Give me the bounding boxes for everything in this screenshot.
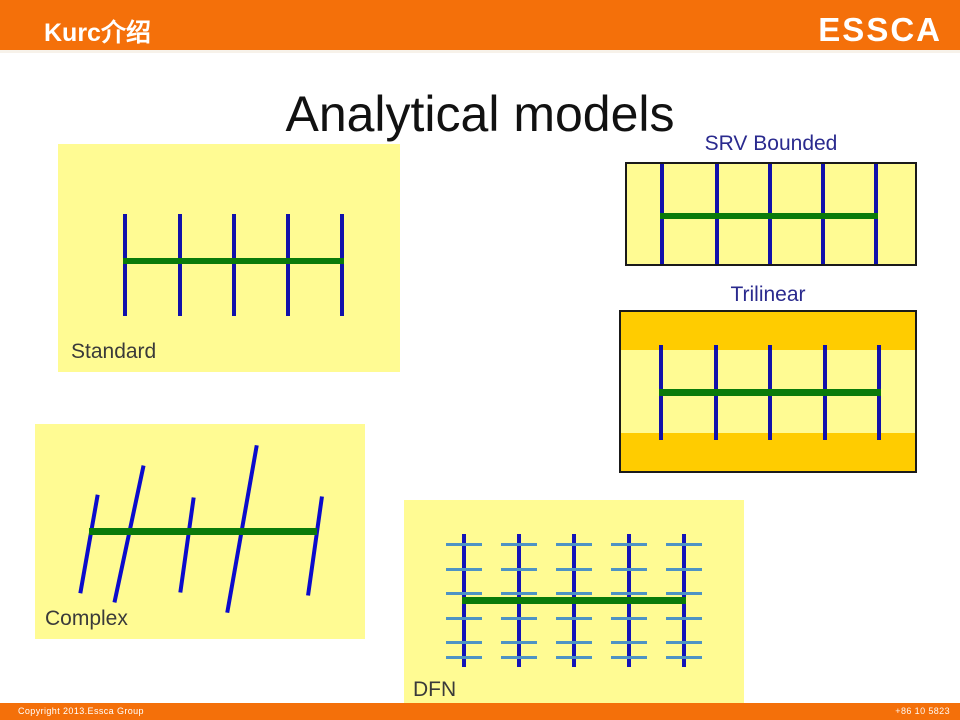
fracture-line <box>78 494 99 593</box>
dfn-cross-bar <box>666 656 702 659</box>
brand-logo: ESSCA <box>818 12 942 48</box>
dfn-cross-bar <box>556 543 592 546</box>
dfn-cross-bar <box>501 656 537 659</box>
fracture-line <box>178 497 195 593</box>
panel-dfn: DFN <box>404 500 744 708</box>
dfn-cross-bar <box>446 656 482 659</box>
dfn-cross-bar <box>556 592 592 595</box>
dfn-cross-bar <box>556 656 592 659</box>
fracture-line <box>232 214 236 316</box>
dfn-cross-bar <box>501 617 537 620</box>
panel-label-standard: Standard <box>71 340 156 364</box>
fracture-line <box>340 214 344 316</box>
dfn-cross-bar <box>611 656 647 659</box>
fracture-line <box>123 214 127 316</box>
dfn-cross-bar <box>666 641 702 644</box>
header-title: Kurc介绍 <box>44 19 151 47</box>
wellbore-line <box>462 597 686 604</box>
footer-contact: +86 10 5823 <box>895 705 950 717</box>
footer-copyright: Copyright 2013.Essca Group <box>18 705 144 717</box>
panel-caption-srv: SRV Bounded <box>625 132 917 156</box>
panel-trilinear <box>619 310 917 473</box>
dfn-cross-bar <box>501 543 537 546</box>
dfn-cross-bar <box>446 568 482 571</box>
dfn-cross-bar <box>611 641 647 644</box>
dfn-cross-bar <box>556 641 592 644</box>
footer-bar <box>0 703 960 720</box>
wellbore-line <box>660 213 878 219</box>
dfn-cross-bar <box>611 568 647 571</box>
dfn-cross-bar <box>666 543 702 546</box>
panel-standard: Standard <box>58 144 400 372</box>
wellbore-line <box>89 528 317 535</box>
dfn-cross-bar <box>611 592 647 595</box>
header-underline <box>0 50 960 53</box>
dfn-cross-bar <box>611 543 647 546</box>
dfn-cross-bar <box>501 568 537 571</box>
dfn-cross-bar <box>501 592 537 595</box>
dfn-cross-bar <box>556 617 592 620</box>
fracture-line <box>306 496 324 596</box>
dfn-cross-bar <box>611 617 647 620</box>
panel-label-dfn: DFN <box>413 678 456 702</box>
fracture-line <box>286 214 290 316</box>
wellbore-line <box>659 389 881 396</box>
dfn-cross-bar <box>666 568 702 571</box>
dfn-cross-bar <box>446 592 482 595</box>
dfn-cross-bar <box>666 617 702 620</box>
panel-caption-trilinear: Trilinear <box>619 283 917 307</box>
fracture-line <box>178 214 182 316</box>
dfn-cross-bar <box>556 568 592 571</box>
dfn-cross-bar <box>446 617 482 620</box>
dfn-cross-bar <box>666 592 702 595</box>
dfn-cross-bar <box>501 641 537 644</box>
panel-srv <box>625 162 917 266</box>
dfn-cross-bar <box>446 641 482 644</box>
wellbore-line <box>123 258 344 264</box>
panel-complex: Complex <box>35 424 365 639</box>
dfn-cross-bar <box>446 543 482 546</box>
panel-label-complex: Complex <box>45 607 128 631</box>
